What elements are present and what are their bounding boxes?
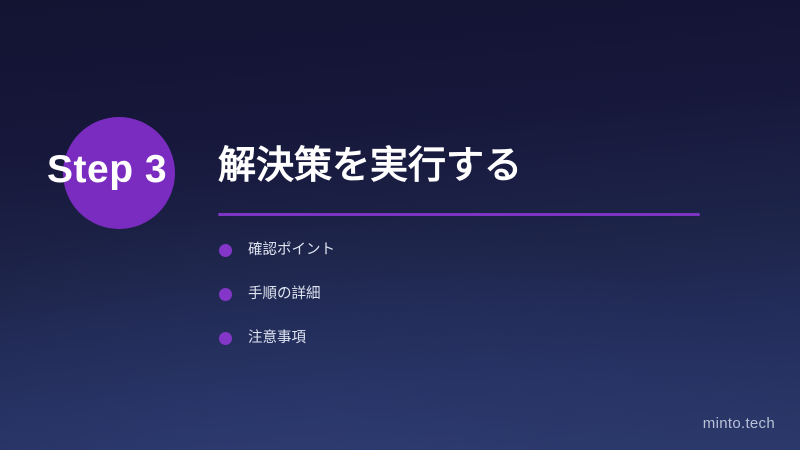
bullet-list: 確認ポイント 手順の詳細 注意事項 xyxy=(219,242,335,346)
list-item-label: 手順の詳細 xyxy=(248,287,321,302)
step-badge-label: Step 3 xyxy=(47,150,167,189)
bullet-dot-icon xyxy=(219,332,232,345)
slide-heading: 解決策を実行する xyxy=(218,145,522,189)
heading-divider xyxy=(218,213,700,216)
bullet-dot-icon xyxy=(219,288,232,301)
list-item-label: 注意事項 xyxy=(248,331,306,346)
list-item: 手順の詳細 xyxy=(219,286,335,302)
bullet-dot-icon xyxy=(219,244,232,257)
list-item: 注意事項 xyxy=(219,330,335,346)
list-item-label: 確認ポイント xyxy=(248,243,335,258)
slide-canvas: Step 3 解決策を実行する 確認ポイント 手順の詳細 注意事項 minto.… xyxy=(0,0,800,450)
list-item: 確認ポイント xyxy=(219,242,335,258)
watermark-label: minto.tech xyxy=(703,415,775,432)
